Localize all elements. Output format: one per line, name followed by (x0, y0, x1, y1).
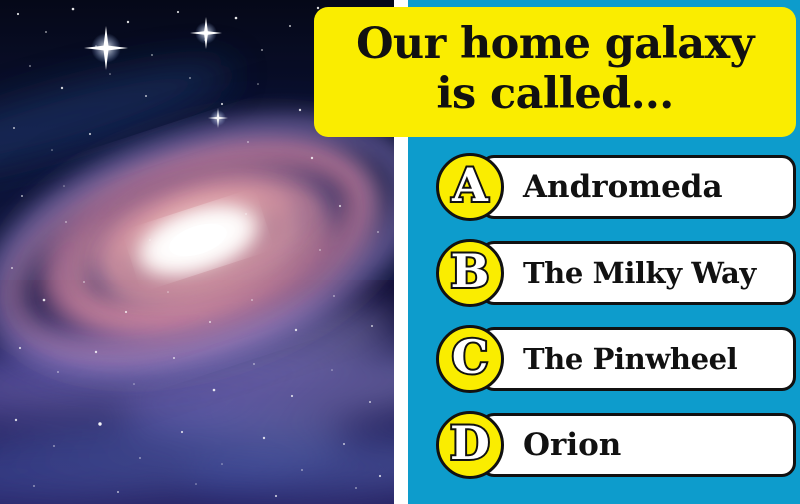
option-letter-a: A (452, 162, 488, 208)
option-row-a[interactable]: Andromeda A (436, 153, 800, 223)
option-badge-a[interactable]: A (436, 153, 504, 221)
option-letter-d: D (450, 420, 490, 466)
quiz-card: Andromeda A The Milky Way B The Pinwheel (0, 0, 800, 504)
question-line-2: is called... (436, 69, 673, 119)
option-pill-a[interactable]: Andromeda (480, 155, 796, 219)
option-row-b[interactable]: The Milky Way B (436, 239, 800, 309)
option-badge-d[interactable]: D (436, 411, 504, 479)
option-badge-b[interactable]: B (436, 239, 504, 307)
option-row-c[interactable]: The Pinwheel C (436, 325, 800, 395)
option-letter-c: C (452, 334, 489, 380)
option-letter-b: B (451, 248, 490, 294)
option-row-d[interactable]: Orion D (436, 411, 800, 481)
question-banner: Our home galaxy is called... (314, 7, 796, 137)
option-label-b: The Milky Way (523, 256, 756, 290)
question-line-1: Our home galaxy (356, 19, 754, 69)
option-pill-c[interactable]: The Pinwheel (480, 327, 796, 391)
option-pill-d[interactable]: Orion (480, 413, 796, 477)
option-badge-c[interactable]: C (436, 325, 504, 393)
option-pill-b[interactable]: The Milky Way (480, 241, 796, 305)
option-label-a: Andromeda (523, 170, 723, 204)
option-label-c: The Pinwheel (523, 342, 737, 376)
option-label-d: Orion (523, 428, 621, 462)
